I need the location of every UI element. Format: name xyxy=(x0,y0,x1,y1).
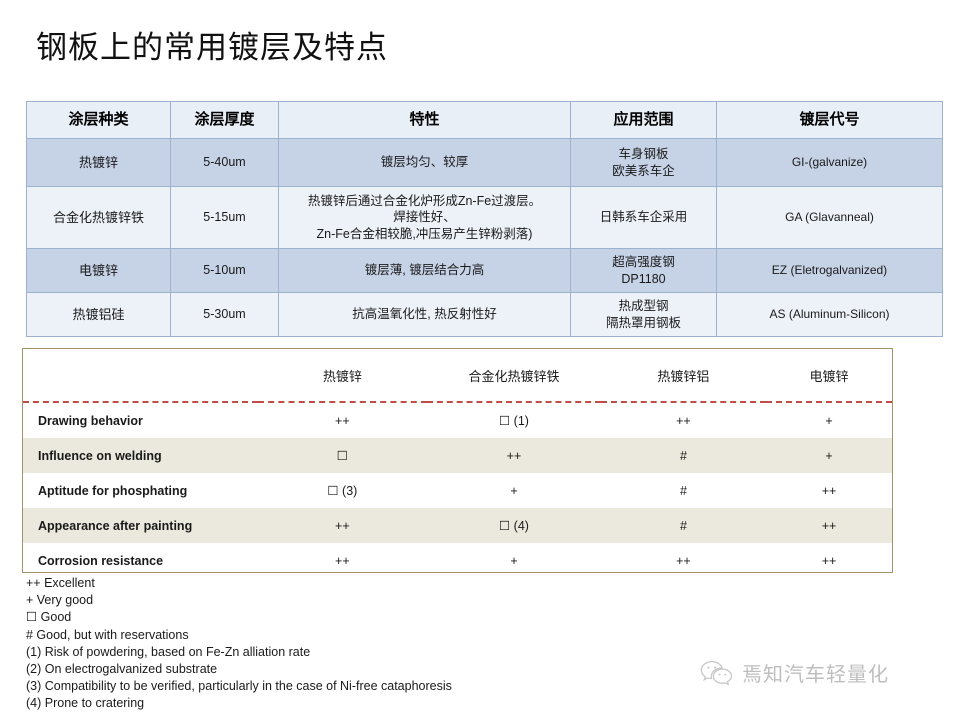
legend-item: ☐ Good xyxy=(26,609,452,626)
cell-thickness: 5-15um xyxy=(171,187,279,249)
column-header-property xyxy=(23,349,258,402)
cell-code: AS (Aluminum-Silicon) xyxy=(717,293,943,337)
comparison-panel: 热镀锌 合金化热镀锌铁 热镀锌铝 电镀锌 Drawing behavior ++… xyxy=(22,348,893,573)
cell-coating-type: 合金化热镀锌铁 xyxy=(27,187,171,249)
row-label: Drawing behavior xyxy=(23,403,258,438)
cell-value: ++ xyxy=(258,543,427,578)
legend-item: ++ Excellent xyxy=(26,575,452,592)
table-row: Appearance after painting ++ ☐ (4) # ++ xyxy=(23,508,892,543)
table-row: 电镀锌 5-10um 镀层薄, 镀层结合力高 超高强度钢 DP1180 EZ (… xyxy=(27,249,943,293)
footnote-item: (4) Prone to cratering xyxy=(26,695,452,712)
cell-value: ☐ (4) xyxy=(427,508,601,543)
row-label: Corrosion resistance xyxy=(23,543,258,578)
cell-value: + xyxy=(766,403,892,438)
coating-types-table: 涂层种类 涂层厚度 特性 应用范围 镀层代号 热镀锌 5-40um 镀层均匀、较… xyxy=(26,101,943,337)
column-header-electrogalvanized: 电镀锌 xyxy=(766,349,892,402)
cell-coating-type: 热镀锌 xyxy=(27,139,171,187)
cell-characteristics: 热镀锌后通过合金化炉形成Zn-Fe过渡层。 焊接性好、 Zn-Fe合金相较脆,冲… xyxy=(279,187,571,249)
table-row: 热镀锌 5-40um 镀层均匀、较厚 车身钢板 欧美系车企 GI-(galvan… xyxy=(27,139,943,187)
table-row: 合金化热镀锌铁 5-15um 热镀锌后通过合金化炉形成Zn-Fe过渡层。 焊接性… xyxy=(27,187,943,249)
cell-value: ☐ xyxy=(258,438,427,473)
cell-value: ++ xyxy=(427,438,601,473)
column-header-zinc-aluminium: 热镀锌铝 xyxy=(601,349,766,402)
legend-item: # Good, but with reservations xyxy=(26,627,452,644)
table-row: 热镀铝硅 5-30um 抗高温氧化性, 热反射性好 热成型钢 隔热罩用钢板 AS… xyxy=(27,293,943,337)
cell-value: ++ xyxy=(258,508,427,543)
cell-thickness: 5-40um xyxy=(171,139,279,187)
watermark: 焉知汽车轻量化 xyxy=(700,658,889,687)
table-row: Aptitude for phosphating ☐ (3) + # ++ xyxy=(23,473,892,508)
cell-value: ++ xyxy=(258,403,427,438)
cell-value: # xyxy=(601,438,766,473)
footnote-item: (1) Risk of powdering, based on Fe-Zn al… xyxy=(26,644,452,661)
table-row: Drawing behavior ++ ☐ (1) ++ + xyxy=(23,403,892,438)
wechat-icon xyxy=(700,660,734,686)
cell-coating-type: 热镀铝硅 xyxy=(27,293,171,337)
comparison-header-row: 热镀锌 合金化热镀锌铁 热镀锌铝 电镀锌 xyxy=(23,349,892,402)
cell-value: ++ xyxy=(601,543,766,578)
cell-application: 热成型钢 隔热罩用钢板 xyxy=(571,293,717,337)
table-row: Corrosion resistance ++ + ++ ++ xyxy=(23,543,892,578)
watermark-text: 焉知汽车轻量化 xyxy=(742,658,889,687)
cell-code: GA (Glavanneal) xyxy=(717,187,943,249)
cell-value: ++ xyxy=(601,403,766,438)
column-header-thickness: 涂层厚度 xyxy=(171,102,279,139)
cell-value: ++ xyxy=(766,508,892,543)
column-header-hot-dip-galvanized: 热镀锌 xyxy=(258,349,427,402)
row-label: Appearance after painting xyxy=(23,508,258,543)
cell-code: EZ (Eletrogalvanized) xyxy=(717,249,943,293)
cell-characteristics: 抗高温氧化性, 热反射性好 xyxy=(279,293,571,337)
cell-value: + xyxy=(427,473,601,508)
cell-application: 车身钢板 欧美系车企 xyxy=(571,139,717,187)
cell-code: GI-(galvanize) xyxy=(717,139,943,187)
page-title: 钢板上的常用镀层及特点 xyxy=(36,22,388,67)
row-label: Aptitude for phosphating xyxy=(23,473,258,508)
cell-thickness: 5-30um xyxy=(171,293,279,337)
column-header-application: 应用范围 xyxy=(571,102,717,139)
column-header-coating-type: 涂层种类 xyxy=(27,102,171,139)
cell-value: + xyxy=(427,543,601,578)
property-comparison-table: 热镀锌 合金化热镀锌铁 热镀锌铝 电镀锌 Drawing behavior ++… xyxy=(23,349,892,578)
column-header-characteristics: 特性 xyxy=(279,102,571,139)
cell-characteristics: 镀层薄, 镀层结合力高 xyxy=(279,249,571,293)
column-header-galvannealed: 合金化热镀锌铁 xyxy=(427,349,601,402)
footnote-item: (2) On electrogalvanized substrate xyxy=(26,661,452,678)
legend-footnotes: ++ Excellent + Very good ☐ Good # Good, … xyxy=(26,575,452,713)
cell-coating-type: 电镀锌 xyxy=(27,249,171,293)
row-label: Influence on welding xyxy=(23,438,258,473)
cell-value: # xyxy=(601,473,766,508)
cell-value: ☐ (1) xyxy=(427,403,601,438)
cell-value: ++ xyxy=(766,543,892,578)
table-row: Influence on welding ☐ ++ # + xyxy=(23,438,892,473)
cell-application: 日韩系车企采用 xyxy=(571,187,717,249)
cell-characteristics: 镀层均匀、较厚 xyxy=(279,139,571,187)
table-header-row: 涂层种类 涂层厚度 特性 应用范围 镀层代号 xyxy=(27,102,943,139)
cell-value: # xyxy=(601,508,766,543)
footnote-item: (3) Compatibility to be verified, partic… xyxy=(26,678,452,695)
column-header-code: 镀层代号 xyxy=(717,102,943,139)
cell-application: 超高强度钢 DP1180 xyxy=(571,249,717,293)
cell-thickness: 5-10um xyxy=(171,249,279,293)
cell-value: ☐ (3) xyxy=(258,473,427,508)
cell-value: ++ xyxy=(766,473,892,508)
legend-item: + Very good xyxy=(26,592,452,609)
cell-value: + xyxy=(766,438,892,473)
